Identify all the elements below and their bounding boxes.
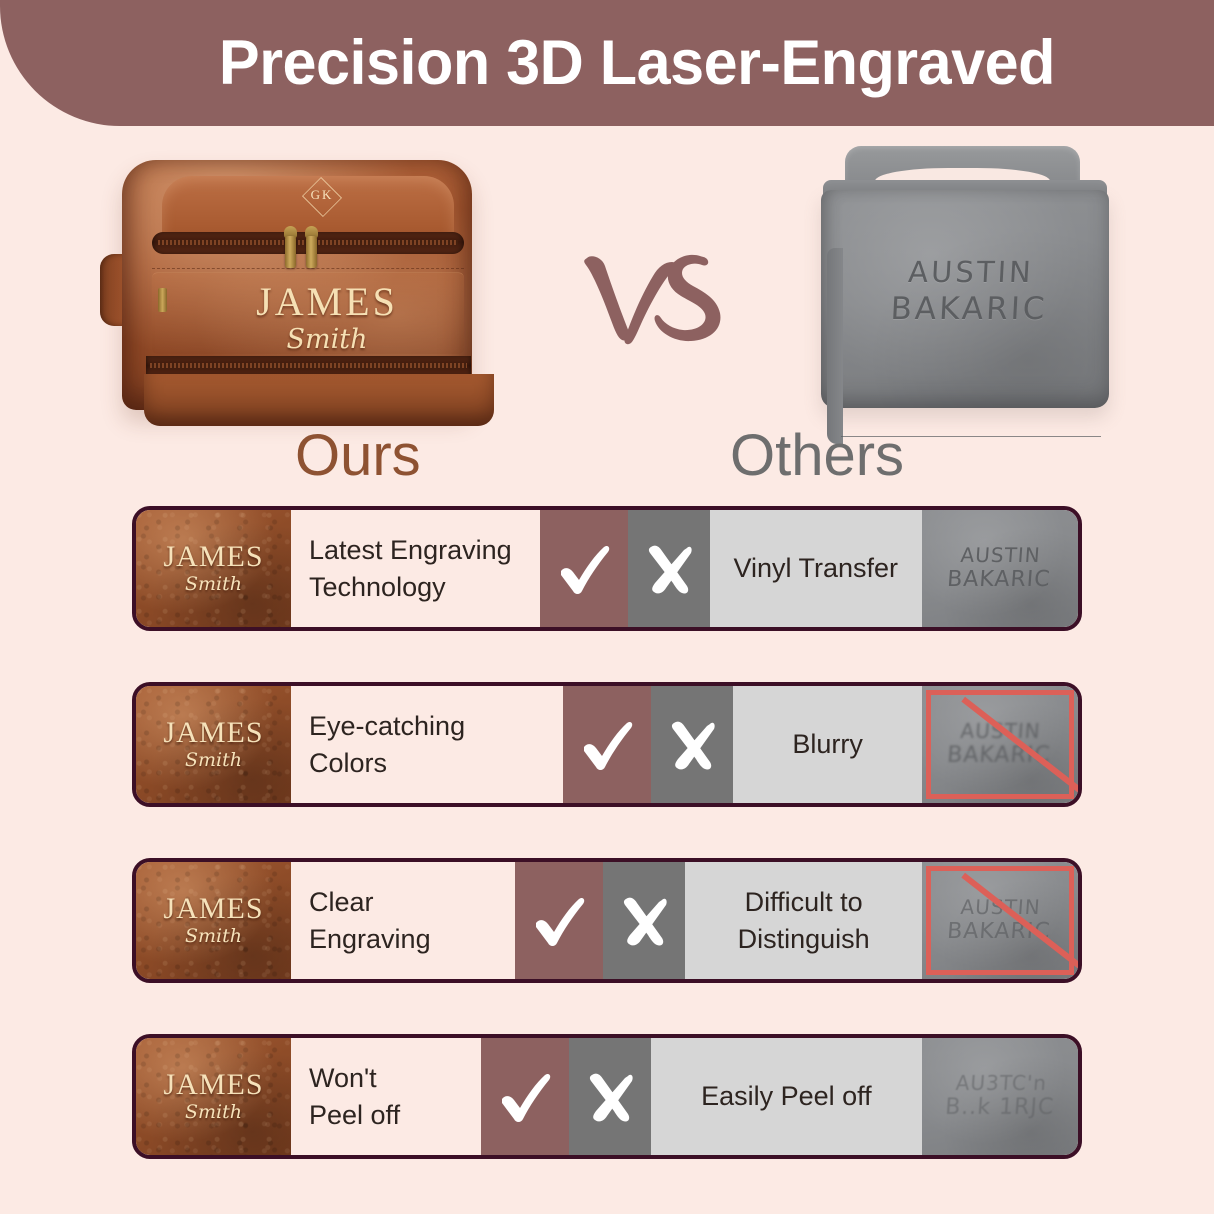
others-cross-cell (628, 510, 710, 627)
ours-check-cell (540, 510, 628, 627)
check-icon (578, 717, 636, 773)
table-row: JAMES Smith Eye-catchingColors Blurry AU… (132, 682, 1082, 807)
ours-bag-base (144, 374, 494, 426)
others-swatch-line2: B..k 1RJC (944, 1095, 1055, 1121)
ours-swatch: JAMES Smith (136, 862, 291, 979)
ours-swatch: JAMES Smith (136, 686, 291, 803)
check-icon (496, 1069, 554, 1125)
others-swatch-line1: AU3TC'n (946, 1071, 1057, 1095)
ours-feature-cell: ClearEngraving (291, 862, 515, 979)
others-swatch-line2: BAKARIC (947, 743, 1052, 769)
ours-feature-text: Latest EngravingTechnology (309, 532, 512, 605)
versus-mark (565, 236, 735, 366)
ours-feature-text: Won'tPeel off (309, 1060, 400, 1133)
others-swatch-line2: BAKARIC (947, 919, 1052, 945)
caption-ours: Ours (295, 422, 421, 489)
others-feature-text: Vinyl Transfer (733, 550, 898, 586)
ours-feature-text: ClearEngraving (309, 884, 431, 957)
zipper-pull-icon (284, 226, 297, 268)
others-swatch: AUSTIN BAKARIC (922, 510, 1078, 627)
others-swatch-line1: AUSTIN (948, 719, 1053, 743)
ours-swatch-line2: Smith (163, 573, 263, 595)
cross-icon (666, 718, 718, 772)
engraved-first-name: JAMES (212, 282, 442, 322)
others-swatch-line1: AUSTIN (948, 543, 1053, 567)
others-feature-cell: Blurry (733, 686, 922, 803)
ours-bag-seam (152, 268, 464, 269)
others-swatch: AUSTIN BAKARIC (922, 686, 1078, 803)
others-swatch: AU3TC'n B..k 1RJC (922, 1038, 1078, 1155)
check-icon (530, 893, 588, 949)
others-cross-cell (603, 862, 685, 979)
ours-swatch: JAMES Smith (136, 510, 291, 627)
others-feature-cell: Easily Peel off (651, 1038, 922, 1155)
pocket-zipper-icon (158, 288, 167, 312)
ours-swatch-line2: Smith (163, 749, 263, 771)
ours-engraved-name: JAMES Smith (212, 282, 442, 355)
ours-feature-cell: Eye-catchingColors (291, 686, 563, 803)
ours-check-cell (563, 686, 651, 803)
others-swatch-line2: BAKARIC (947, 567, 1052, 593)
ours-swatch-line1: JAMES (163, 894, 263, 924)
others-swatch: AUSTIN BAKARIC (922, 862, 1078, 979)
cross-icon (584, 1070, 636, 1124)
ours-product-image: GK JAMES Smith (100, 146, 490, 421)
ours-feature-cell: Latest EngravingTechnology (291, 510, 540, 627)
zipper-pull-icon (305, 226, 318, 268)
table-row: JAMES Smith Won'tPeel off Easily Peel of… (132, 1034, 1082, 1159)
ours-swatch: JAMES Smith (136, 1038, 291, 1155)
ours-swatch-line1: JAMES (163, 718, 263, 748)
ours-swatch-line1: JAMES (163, 542, 263, 572)
ours-swatch-line1: JAMES (163, 1070, 263, 1100)
others-printed-name: AUSTIN BAKARIC (868, 254, 1072, 329)
ours-swatch-line2: Smith (163, 1101, 263, 1123)
ours-feature-text: Eye-catchingColors (309, 708, 465, 781)
others-cross-cell (651, 686, 733, 803)
others-feature-cell: Vinyl Transfer (710, 510, 922, 627)
cross-icon (618, 894, 670, 948)
ours-check-cell (515, 862, 603, 979)
page-title: Precision 3D Laser-Engraved (219, 27, 1055, 99)
monogram-diamond-icon: GK (295, 178, 349, 218)
monogram-text: GK (295, 187, 349, 203)
others-swatch-line1: AUSTIN (948, 895, 1053, 919)
others-bag-edge (827, 248, 843, 444)
hero-section: GK JAMES Smith (0, 126, 1214, 508)
ours-bag-bottom-zipper (146, 356, 471, 376)
others-cross-cell (569, 1038, 651, 1155)
others-feature-cell: Difficult toDistinguish (685, 862, 922, 979)
ours-feature-cell: Won'tPeel off (291, 1038, 481, 1155)
caption-others: Others (730, 422, 904, 489)
cross-icon (643, 542, 695, 596)
table-row: JAMES Smith ClearEngraving Difficult toD… (132, 858, 1082, 983)
engraved-last-name: Smith (212, 324, 442, 355)
ours-check-cell (481, 1038, 569, 1155)
ours-swatch-line2: Smith (163, 925, 263, 947)
others-feature-text: Difficult toDistinguish (738, 884, 870, 957)
check-icon (555, 541, 613, 597)
header-banner: Precision 3D Laser-Engraved (0, 0, 1214, 126)
others-product-image: AUSTIN BAKARIC (815, 146, 1115, 421)
others-feature-text: Blurry (792, 726, 863, 762)
others-feature-text: Easily Peel off (701, 1078, 872, 1114)
table-row: JAMES Smith Latest EngravingTechnology V… (132, 506, 1082, 631)
others-name-line2: BAKARIC (868, 290, 1070, 329)
others-name-line1: AUSTIN (870, 254, 1072, 290)
ours-bag-body: GK JAMES Smith (122, 160, 472, 410)
